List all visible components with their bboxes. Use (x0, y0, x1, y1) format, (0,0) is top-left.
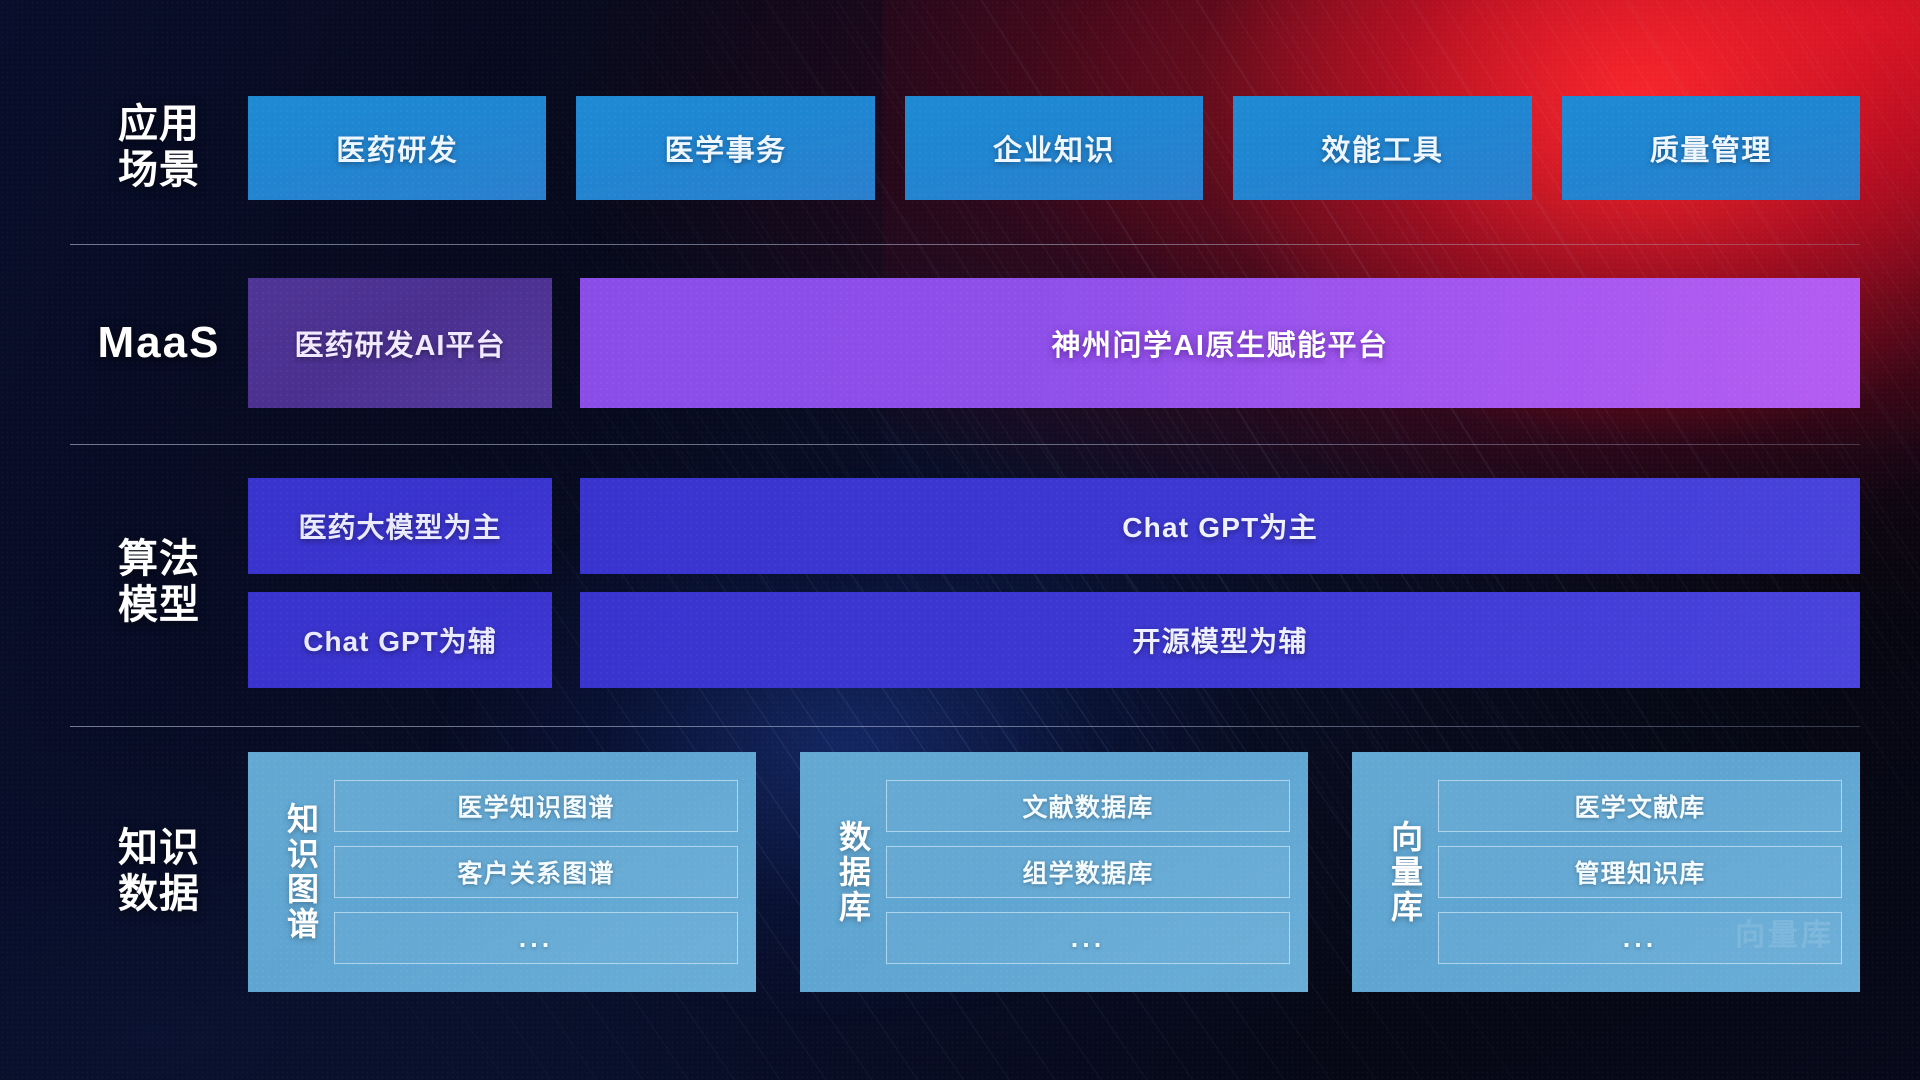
algorithm-card-chatgpt-primary[interactable]: Chat GPT为主 (580, 478, 1860, 574)
architecture-diagram: 应用 场景 医药研发 医学事务 企业知识 效能工具 质量管理 MaaS 医药研发… (70, 96, 1860, 984)
knowledge-item-list-database: 文献数据库 组学数据库 ... (886, 780, 1290, 964)
app-card-efficiency-tools[interactable]: 效能工具 (1233, 96, 1531, 200)
divider-after-application (70, 244, 1860, 245)
knowledge-item-list-vector-store: 医学文献库 管理知识库 ... (1438, 780, 1842, 964)
knowledge-item-medical-literature-store[interactable]: 医学文献库 (1438, 780, 1842, 832)
algorithm-card-chatgpt-secondary[interactable]: Chat GPT为辅 (248, 592, 552, 688)
knowledge-card-vector-store[interactable]: 向量库 医学文献库 管理知识库 ... 向量库 (1352, 752, 1860, 992)
knowledge-item-literature-database[interactable]: 文献数据库 (886, 780, 1290, 832)
algorithm-card-pharma-llm-primary[interactable]: 医药大模型为主 (248, 478, 552, 574)
knowledge-card-label-database: 数据库 (814, 820, 872, 925)
row-label-maas: MaaS (70, 318, 248, 368)
app-card-medical-affairs[interactable]: 医学事务 (576, 96, 874, 200)
app-card-drug-rd[interactable]: 医药研发 (248, 96, 546, 200)
slide-canvas: 应用 场景 医药研发 医学事务 企业知识 效能工具 质量管理 MaaS 医药研发… (0, 0, 1920, 1080)
row-label-algorithm-model: 算法 模型 (70, 537, 248, 628)
divider-after-maas (70, 444, 1860, 445)
knowledge-item-omics-database[interactable]: 组学数据库 (886, 846, 1290, 898)
row-maas: MaaS 医药研发AI平台 神州问学AI原生赋能平台 (70, 278, 1860, 408)
knowledge-item-more-vector-store[interactable]: ... (1438, 912, 1842, 964)
knowledge-card-label-vector-store: 向量库 (1366, 820, 1424, 925)
maas-card-shenzhou-wenxue-platform[interactable]: 神州问学AI原生赋能平台 (580, 278, 1860, 408)
knowledge-item-medical-knowledge-graph[interactable]: 医学知识图谱 (334, 780, 738, 832)
row-label-knowledge-data: 知识 数据 (70, 826, 248, 917)
algorithm-line-secondary: Chat GPT为辅 开源模型为辅 (248, 592, 1860, 688)
algorithm-card-list: 医药大模型为主 Chat GPT为主 Chat GPT为辅 开源模型为辅 (248, 478, 1860, 688)
knowledge-card-label-knowledge-graph: 知识图谱 (262, 802, 320, 942)
maas-card-list: 医药研发AI平台 神州问学AI原生赋能平台 (248, 278, 1860, 408)
divider-after-algorithm (70, 726, 1860, 727)
knowledge-item-more-database[interactable]: ... (886, 912, 1290, 964)
app-card-enterprise-knowledge[interactable]: 企业知识 (905, 96, 1203, 200)
algorithm-line-primary: 医药大模型为主 Chat GPT为主 (248, 478, 1860, 574)
knowledge-card-list: 知识图谱 医学知识图谱 客户关系图谱 ... 数据库 文献数据库 组学数据库 .… (248, 752, 1860, 992)
knowledge-card-knowledge-graph[interactable]: 知识图谱 医学知识图谱 客户关系图谱 ... (248, 752, 756, 992)
application-card-list: 医药研发 医学事务 企业知识 效能工具 质量管理 (248, 96, 1860, 200)
app-card-quality-management[interactable]: 质量管理 (1562, 96, 1860, 200)
knowledge-item-more-knowledge-graph[interactable]: ... (334, 912, 738, 964)
maas-card-drug-rd-ai-platform[interactable]: 医药研发AI平台 (248, 278, 552, 408)
knowledge-item-list-knowledge-graph: 医学知识图谱 客户关系图谱 ... (334, 780, 738, 964)
algorithm-card-opensource-secondary[interactable]: 开源模型为辅 (580, 592, 1860, 688)
knowledge-item-management-knowledge-store[interactable]: 管理知识库 (1438, 846, 1842, 898)
row-label-application-scenarios: 应用 场景 (70, 102, 248, 193)
row-algorithm-model: 算法 模型 医药大模型为主 Chat GPT为主 Chat GPT为辅 开源模型… (70, 478, 1860, 688)
knowledge-item-customer-relation-graph[interactable]: 客户关系图谱 (334, 846, 738, 898)
row-application-scenarios: 应用 场景 医药研发 医学事务 企业知识 效能工具 质量管理 (70, 96, 1860, 200)
row-knowledge-data: 知识 数据 知识图谱 医学知识图谱 客户关系图谱 ... 数据库 文献数据库 组… (70, 760, 1860, 984)
knowledge-card-database[interactable]: 数据库 文献数据库 组学数据库 ... (800, 752, 1308, 992)
